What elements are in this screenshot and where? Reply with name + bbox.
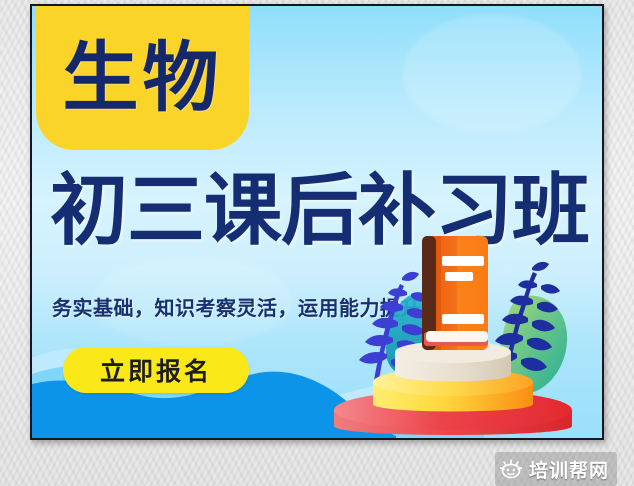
course-promo-poster: 生物 初三课后补习班 务实基础，知识考察灵活，运用能力提升 立即报名	[30, 4, 604, 440]
background-blob-1	[402, 14, 582, 134]
sun-face-icon	[499, 458, 523, 480]
watermark-label: 培训帮网	[529, 456, 609, 483]
enroll-now-label: 立即报名	[100, 352, 212, 388]
subject-badge-label: 生物	[63, 40, 223, 116]
subject-badge: 生物	[36, 4, 249, 150]
site-watermark: 培训帮网	[495, 452, 617, 486]
page-canvas: 生物 初三课后补习班 务实基础，知识考察灵活，运用能力提升 立即报名	[0, 0, 634, 486]
podium-illustration	[287, 234, 602, 438]
textbook-illustration	[422, 236, 488, 350]
enroll-now-button[interactable]: 立即报名	[63, 347, 249, 393]
